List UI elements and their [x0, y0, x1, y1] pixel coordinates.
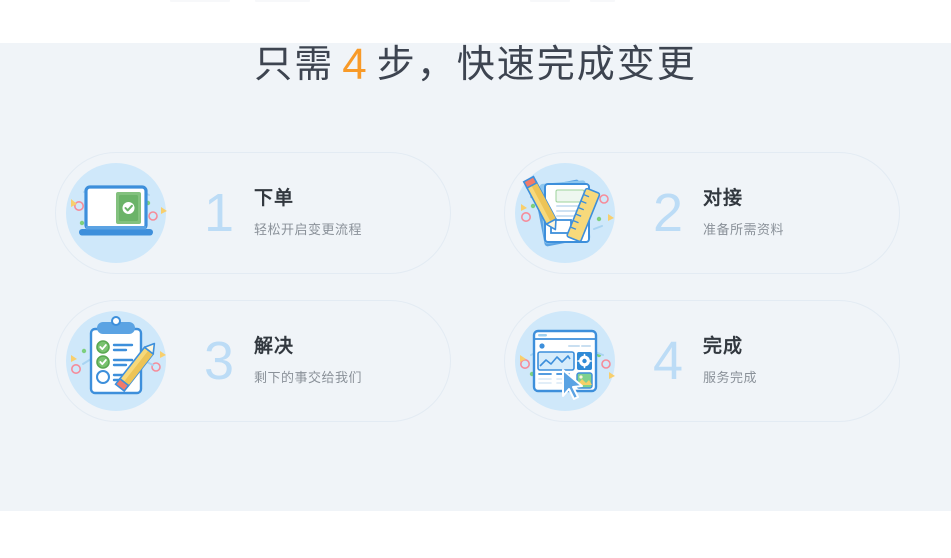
step-2-subtitle: 准备所需资料: [703, 222, 899, 238]
step-3-text: 解决 剩下的事交给我们: [250, 336, 450, 385]
cut-off-fragment: [255, 0, 310, 2]
step-2-title: 对接: [703, 188, 899, 211]
step-3-icon-wrap: [62, 307, 170, 415]
page-top-strip: [0, 0, 951, 43]
step-2-text: 对接 准备所需资料: [699, 188, 899, 237]
step-card-4[interactable]: 4 完成 服务完成: [504, 300, 900, 422]
step-4-number: 4: [637, 334, 699, 388]
step-1-subtitle: 轻松开启变更流程: [254, 222, 450, 238]
step-card-1[interactable]: 1 下单 轻松开启变更流程: [55, 152, 451, 274]
step-4-icon-wrap: [511, 307, 619, 415]
step-1-title: 下单: [254, 188, 450, 211]
heading-step-count: 4: [334, 40, 376, 89]
step-3-title: 解决: [254, 336, 450, 359]
section-heading: 只需4步，快速完成变更: [0, 43, 951, 87]
step-2-number: 2: [637, 186, 699, 240]
documents-pencil-ruler-icon: [511, 159, 619, 267]
step-4-subtitle: 服务完成: [703, 370, 899, 386]
dashboard-window-icon: [511, 307, 619, 415]
cut-off-fragment: [170, 0, 230, 2]
laptop-order-icon: [62, 159, 170, 267]
step-4-text: 完成 服务完成: [699, 336, 899, 385]
step-card-2[interactable]: 2 对接 准备所需资料: [504, 152, 900, 274]
step-1-number: 1: [188, 186, 250, 240]
step-3-number: 3: [188, 334, 250, 388]
step-4-title: 完成: [703, 336, 899, 359]
step-3-subtitle: 剩下的事交给我们: [254, 370, 450, 386]
step-2-icon-wrap: [511, 159, 619, 267]
cut-off-fragment: [530, 0, 570, 2]
heading-prefix: 只需: [254, 44, 334, 86]
step-card-3[interactable]: 3 解决 剩下的事交给我们: [55, 300, 451, 422]
cut-off-fragment: [590, 0, 615, 2]
step-1-text: 下单 轻松开启变更流程: [250, 188, 450, 237]
steps-grid: 1 下单 轻松开启变更流程: [55, 152, 900, 422]
heading-suffix: 步，快速完成变更: [377, 44, 697, 86]
clipboard-checklist-icon: [62, 307, 170, 415]
step-1-icon-wrap: [62, 159, 170, 267]
